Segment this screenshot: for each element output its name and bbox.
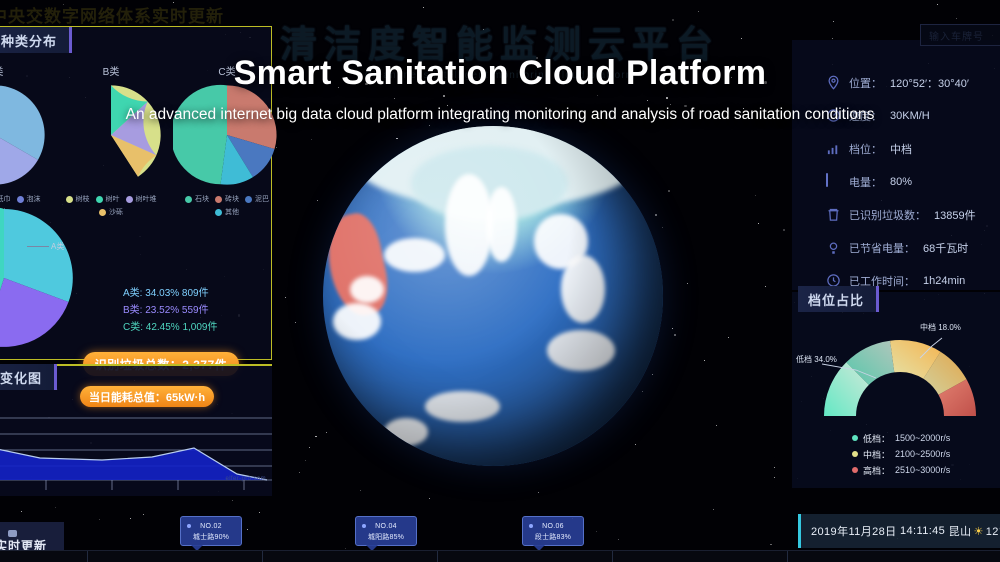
legend-item: 石块 <box>185 194 209 204</box>
status-dot <box>362 524 366 528</box>
garbage-type-panel-title: 垃圾种类分布 <box>0 27 72 53</box>
status-value: 13859件 <box>934 207 976 223</box>
legend-range: 2510~3000r/s <box>895 465 950 475</box>
status-dot <box>187 524 191 528</box>
stat-c: C类: 42.45% 1,009件 <box>123 319 218 336</box>
energy-chart-panel: 能耗变化图 当日能耗总值：65kW·h elfer-pro.com <box>0 364 272 496</box>
sun-icon: ☀ <box>973 525 983 538</box>
legend-item-mid: 中档： 2100~2500r/s <box>852 446 950 462</box>
legend-range: 1500~2000r/s <box>895 433 950 443</box>
road-badge-name: 城阳路85% <box>356 532 416 543</box>
legend-item: 砖块 <box>215 194 239 204</box>
status-dot <box>529 524 533 528</box>
garbage-stats-list: A类: 34.03% 809件 B类: 23.52% 559件 C类: 42.4… <box>123 285 218 336</box>
status-value: 80% <box>890 176 912 188</box>
pie-total-svg <box>0 203 79 353</box>
road-badge-name: 段士路83% <box>523 532 583 543</box>
status-value: 1h24min <box>923 275 965 287</box>
overlay-title-block: Smart Sanitation Cloud Platform An advan… <box>0 54 1000 124</box>
pie-total-callout: A类 <box>51 241 64 252</box>
pie-c-legend: 石块 砖块 泥巴 其他 <box>173 194 281 217</box>
legend-item: 树叶 <box>96 194 120 204</box>
legend-name: 高档： <box>863 464 890 477</box>
stat-a: A类: 34.03% 809件 <box>123 285 218 302</box>
status-row-power-saved: 已节省电量： 68千瓦时 <box>826 231 976 264</box>
road-badge-3[interactable]: NO.06 段士路83% <box>522 516 584 546</box>
chart-watermark: elfer-pro.com <box>225 476 266 482</box>
status-value: 中档 <box>890 141 912 157</box>
signal-icon <box>826 141 841 156</box>
gear-gauge-svg <box>792 312 1000 430</box>
gear-gauge-legend: 低档： 1500~2000r/s 中档： 2100~2500r/s 高档： 25… <box>852 430 950 478</box>
status-label: 已节省电量： <box>849 240 915 256</box>
bottom-axis-strip <box>0 550 1000 562</box>
energy-chart-panel-title: 能耗变化图 <box>0 364 57 390</box>
gear-gauge: 低档 34.0% 中档 18.0% <box>792 312 1000 430</box>
legend-item: 泥巴 <box>245 194 269 204</box>
earth-globe <box>323 126 663 466</box>
city-name: 昆山 <box>949 523 972 539</box>
page-subtitle: An advanced internet big data cloud plat… <box>0 106 1000 124</box>
battery-icon <box>826 174 841 189</box>
current-date: 2019年11月28日 <box>811 523 897 539</box>
gauge-note-mid: 中档 18.0% <box>920 322 961 333</box>
legend-name: 中档： <box>863 448 890 461</box>
current-time: 14:11:45 <box>900 525 945 537</box>
road-badge-name: 城士路90% <box>181 532 241 543</box>
legend-range: 2100~2500r/s <box>895 449 950 459</box>
gauge-note-low: 低档 34.0% <box>796 354 837 365</box>
top-banner-text: 中央交数字网络体系实时更新 <box>0 2 240 28</box>
plate-search-input[interactable]: 输入车牌号 <box>920 24 1000 46</box>
road-badge-1[interactable]: NO.02 城士路90% <box>180 516 242 546</box>
status-label: 已识别垃圾数： <box>849 207 926 223</box>
status-label: 电量： <box>849 174 882 190</box>
page-title: Smart Sanitation Cloud Platform <box>0 54 1000 93</box>
globe-sphere <box>323 126 663 466</box>
status-label: 档位： <box>849 141 882 157</box>
legend-item: 其他 <box>215 207 239 217</box>
stat-b: B类: 23.52% 559件 <box>123 302 218 319</box>
globe-shading <box>323 126 663 466</box>
legend-item-high: 高档： 2510~3000r/s <box>852 462 950 478</box>
status-row-garbage-count: 已识别垃圾数： 13859件 <box>826 198 976 231</box>
trash-icon <box>826 207 841 222</box>
legend-item: 树叶堆 <box>126 194 157 204</box>
energy-total-badge: 当日能耗总值：65kW·h <box>80 386 214 407</box>
legend-item: 沙砾 <box>99 207 123 217</box>
bulb-icon <box>826 240 841 255</box>
status-row-battery: 电量： 80% <box>826 165 976 198</box>
datetime-weather-bar: 2019年11月28日 14:11:45 昆山 ☀ 12℃ <box>798 514 1000 548</box>
status-value: 68千瓦时 <box>923 240 968 256</box>
gear-ratio-panel-title: 档位占比 <box>798 286 879 312</box>
dashboard-stage: 清洁度智能监测云平台 Cleanliness intelligent monit… <box>0 0 1000 562</box>
legend-name: 低档： <box>863 432 890 445</box>
temperature: 12℃ <box>986 525 1000 538</box>
gear-ratio-panel: 档位占比 <box>792 292 1000 488</box>
legend-item-low: 低档： 1500~2000r/s <box>852 430 950 446</box>
status-row-gear: 档位： 中档 <box>826 132 976 165</box>
road-badge-2[interactable]: NO.04 城阳路85% <box>355 516 417 546</box>
